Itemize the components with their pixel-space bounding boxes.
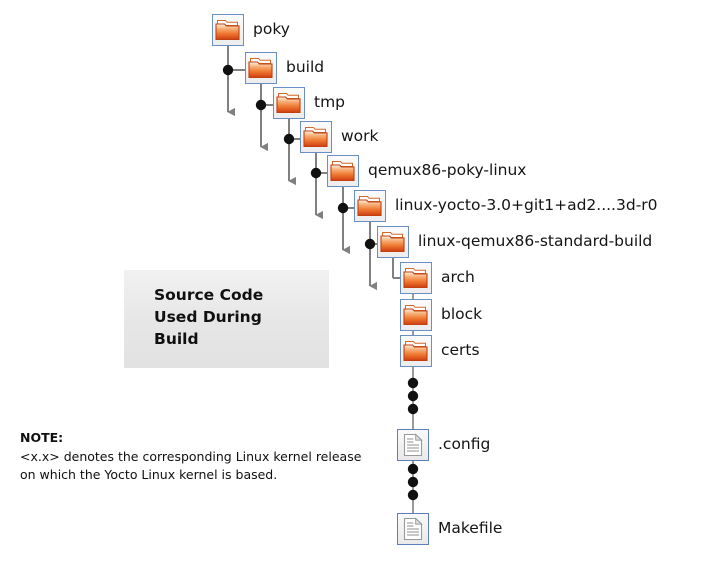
folder-icon <box>327 155 359 187</box>
node-label: linux-yocto-3.0+git1+ad2....3d-r0 <box>395 198 658 214</box>
note-title: NOTE: <box>20 430 380 447</box>
tree-node-build[interactable]: build <box>245 52 324 84</box>
node-label: build <box>286 60 324 76</box>
node-label: tmp <box>314 95 345 111</box>
node-label: work <box>341 129 379 145</box>
file-icon <box>397 429 429 461</box>
node-label: certs <box>441 343 480 359</box>
folder-icon <box>400 335 432 367</box>
node-label: .config <box>438 437 490 453</box>
folder-icon <box>400 299 432 331</box>
folder-icon <box>273 87 305 119</box>
node-label: block <box>441 307 482 323</box>
source-code-callout: Source Code Used During Build <box>124 270 329 368</box>
node-label: arch <box>441 270 475 286</box>
connector-lines <box>0 0 705 581</box>
node-label: Makefile <box>438 521 502 537</box>
callout-text: Source Code Used During Build <box>154 284 263 350</box>
tree-node-block[interactable]: block <box>400 299 482 331</box>
tree-node-linux-qemux86-standard-build[interactable]: linux-qemux86-standard-build <box>377 226 652 258</box>
tree-node-work[interactable]: work <box>300 121 379 153</box>
folder-icon <box>400 262 432 294</box>
tree-node-makefile[interactable]: Makefile <box>397 513 502 545</box>
folder-icon <box>212 14 244 46</box>
file-icon <box>397 513 429 545</box>
tree-node-arch[interactable]: arch <box>400 262 475 294</box>
tree-node-poky[interactable]: poky <box>212 14 290 46</box>
tree-node-qemux86-poky-linux[interactable]: qemux86-poky-linux <box>327 155 526 187</box>
tree-node-linux-yocto[interactable]: linux-yocto-3.0+git1+ad2....3d-r0 <box>354 190 658 222</box>
tree-node-certs[interactable]: certs <box>400 335 480 367</box>
node-label: poky <box>253 22 290 38</box>
note-body: <x.x> denotes the corresponding Linux ke… <box>20 448 380 484</box>
tree-node-tmp[interactable]: tmp <box>273 87 345 119</box>
folder-icon <box>377 226 409 258</box>
note-block: NOTE: <x.x> denotes the corresponding Li… <box>20 430 380 483</box>
folder-icon <box>300 121 332 153</box>
directory-tree-diagram: poky build tmp work <box>0 0 705 581</box>
node-label: qemux86-poky-linux <box>368 163 526 179</box>
tree-node-config-file[interactable]: .config <box>397 429 490 461</box>
folder-icon <box>245 52 277 84</box>
folder-icon <box>354 190 386 222</box>
node-label: linux-qemux86-standard-build <box>418 234 652 250</box>
